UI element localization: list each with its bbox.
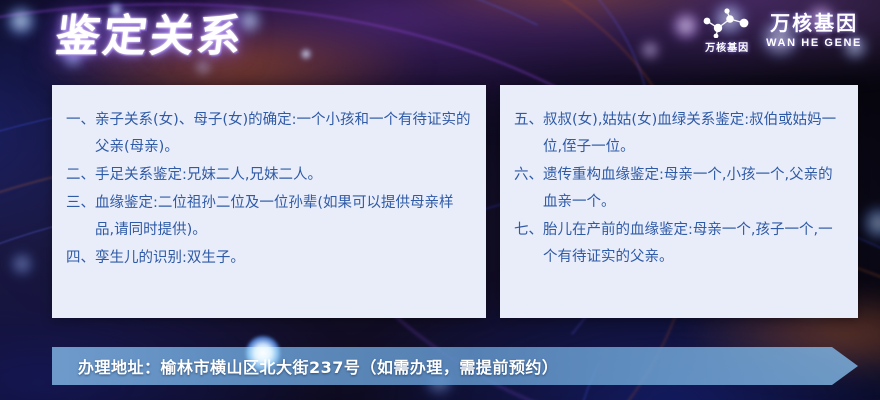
list-item: 二、 手足关系鉴定:兄妹二人,兄妹二人。 [66,162,472,189]
list-item-text: 亲子关系(女)、母子(女)的确定:一个小孩和一个有待证实的父亲(母亲)。 [95,107,472,161]
list-item-number: 五、 [514,107,543,161]
brand-logo: 万核基因 万核基因 WAN HE GENE [700,8,862,54]
brand-name-cn: 万核基因 [770,14,858,34]
address-banner-text: 办理地址：榆林市横山区北大街237号（如需办理，需提前预约） [78,354,558,378]
list-item-number: 四、 [66,245,95,272]
logo-wordmark: 万核基因 WAN HE GENE [766,14,862,49]
brand-name-en: WAN HE GENE [766,38,862,49]
list-item-number: 六、 [514,162,543,216]
list-item-text: 孪生儿的识别:双生子。 [95,245,472,272]
page-title: 鉴定关系 [52,8,247,66]
list-item: 四、 孪生儿的识别:双生子。 [66,245,472,272]
poster-canvas: 鉴定关系 [0,0,880,400]
molecule-node-icon [700,8,754,38]
list-item-number: 二、 [66,162,95,189]
service-panel-left: 一、 亲子关系(女)、母子(女)的确定:一个小孩和一个有待证实的父亲(母亲)。 … [52,85,486,318]
service-panel-right: 五、 叔叔(女),姑姑(女)血绿关系鉴定:叔伯或姑妈一位,侄子一位。 六、 遗传… [500,85,858,318]
logo-mark: 万核基因 [700,8,754,54]
list-item-text: 手足关系鉴定:兄妹二人,兄妹二人。 [95,162,472,189]
list-item-number: 一、 [66,107,95,161]
list-item: 三、 血缘鉴定:二位祖孙二位及一位孙辈(如果可以提供母亲样品,请同时提供)。 [66,190,472,244]
list-item: 七、 胎儿在产前的血缘鉴定:母亲一个,孩子一个,一个有待证实的父亲。 [514,217,844,271]
address-banner: 办理地址：榆林市横山区北大街237号（如需办理，需提前预约） [52,347,858,385]
list-item-text: 叔叔(女),姑姑(女)血绿关系鉴定:叔伯或姑妈一位,侄子一位。 [543,107,844,161]
list-item: 一、 亲子关系(女)、母子(女)的确定:一个小孩和一个有待证实的父亲(母亲)。 [66,107,472,161]
list-item-text: 遗传重构血缘鉴定:母亲一个,小孩一个,父亲的血亲一个。 [543,162,844,216]
list-item-number: 七、 [514,217,543,271]
list-item-number: 三、 [66,190,95,244]
list-item-text: 血缘鉴定:二位祖孙二位及一位孙辈(如果可以提供母亲样品,请同时提供)。 [95,190,472,244]
list-item-text: 胎儿在产前的血缘鉴定:母亲一个,孩子一个,一个有待证实的父亲。 [543,217,844,271]
list-item: 五、 叔叔(女),姑姑(女)血绿关系鉴定:叔伯或姑妈一位,侄子一位。 [514,107,844,161]
list-item: 六、 遗传重构血缘鉴定:母亲一个,小孩一个,父亲的血亲一个。 [514,162,844,216]
logo-mark-label: 万核基因 [705,39,749,54]
